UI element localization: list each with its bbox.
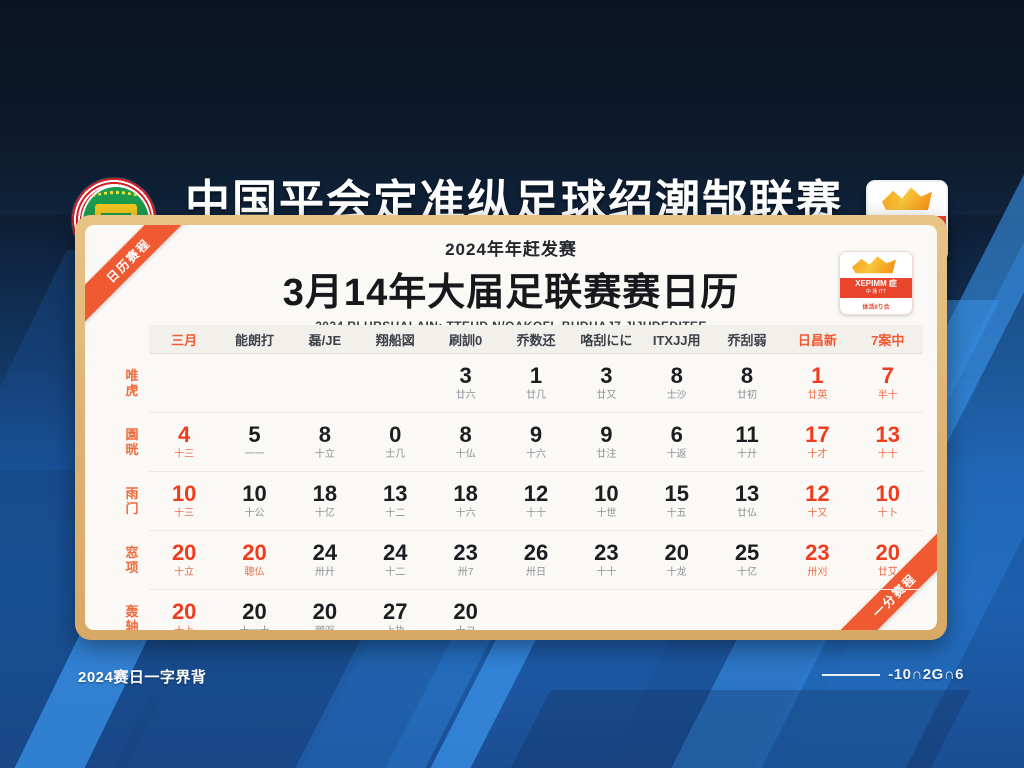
calendar-day-number: 1 bbox=[782, 364, 852, 388]
calendar-day-number: 23 bbox=[782, 541, 852, 565]
calendar-day-number: 25 bbox=[712, 541, 782, 565]
calendar-day-cell[interactable]: 15十五 bbox=[642, 472, 712, 531]
calendar-day-cell[interactable]: 10十三 bbox=[149, 472, 219, 531]
calendar-day-number: 12 bbox=[501, 482, 571, 506]
calendar-day-cell[interactable]: 26卅日 bbox=[501, 531, 571, 590]
calendar-card-frame: 日历赛程 一分赛程 2024年年赶发赛 3月14年大届足联赛赛日历 2024 R… bbox=[75, 215, 947, 640]
calendar-day-cell[interactable]: 8廿初 bbox=[712, 354, 782, 413]
calendar-day-lunar: 十世 bbox=[571, 507, 641, 520]
calendar-day-lunar: 十十 bbox=[853, 448, 923, 461]
calendar-day-lunar: 十六 bbox=[501, 448, 571, 461]
sponsor-logo-top bbox=[868, 182, 946, 216]
footer-right: -10∩2G∩6 bbox=[822, 666, 964, 683]
calendar-day-lunar: 十公 bbox=[219, 507, 289, 520]
calendar-day-lunar: 十廾 bbox=[712, 448, 782, 461]
calendar-day-lunar: 十六 bbox=[430, 507, 500, 520]
calendar-day-number: 10 bbox=[853, 482, 923, 506]
calendar-day-cell[interactable]: 18十六 bbox=[430, 472, 500, 531]
calendar-weekday-2: 磊/JE bbox=[290, 325, 360, 354]
calendar-day-cell[interactable]: 7半十 bbox=[853, 354, 923, 413]
calendar-day-cell[interactable]: 8十立 bbox=[290, 413, 360, 472]
calendar-day-lunar: 十二 bbox=[360, 566, 430, 579]
calendar-day-number: 6 bbox=[642, 423, 712, 447]
calendar-day-number: 20 bbox=[219, 600, 289, 624]
calendar-day-cell[interactable]: 6十返 bbox=[642, 413, 712, 472]
calendar-title: 3月14年大届足联赛赛日历 bbox=[85, 261, 937, 316]
flame-icon bbox=[852, 256, 896, 274]
calendar-day-number: 3 bbox=[430, 364, 500, 388]
calendar-body: 唯虎3廿六1廿几3廿又8士沙8廿初1廿英7半十園晄4十三5一一8十立0士几8十仏… bbox=[115, 354, 923, 631]
card-sponsor-logo-top bbox=[840, 252, 912, 278]
calendar-day-lunar: 聰仏 bbox=[219, 566, 289, 579]
calendar-week-row: 唯虎3廿六1廿几3廿又8士沙8廿初1廿英7半十 bbox=[115, 354, 923, 413]
calendar-day-number: 8 bbox=[712, 364, 782, 388]
calendar-day-number: 18 bbox=[290, 482, 360, 506]
calendar-row-label-char: 门 bbox=[115, 501, 149, 516]
calendar-day-cell[interactable]: 20十一十 bbox=[219, 590, 289, 631]
calendar-day-lunar: 十立 bbox=[290, 448, 360, 461]
calendar-day-number: 10 bbox=[219, 482, 289, 506]
calendar-day-lunar: 廿注 bbox=[571, 448, 641, 461]
calendar-day-cell[interactable]: 1廿几 bbox=[501, 354, 571, 413]
calendar-day-empty bbox=[360, 354, 430, 413]
calendar-day-lunar: 卿沤 bbox=[290, 625, 360, 630]
calendar-day-cell[interactable]: 8十仏 bbox=[430, 413, 500, 472]
footer-left-text: 2024赛日一字界背 bbox=[78, 666, 206, 687]
calendar-day-lunar: 卅刈 bbox=[782, 566, 852, 579]
calendar-day-lunar: 十上 bbox=[149, 625, 219, 630]
calendar-day-lunar: 十ヨ bbox=[430, 625, 500, 630]
calendar-day-number: 20 bbox=[149, 600, 219, 624]
calendar-day-lunar: 半十 bbox=[853, 389, 923, 402]
calendar-day-cell[interactable]: 23卅7 bbox=[430, 531, 500, 590]
calendar-day-number: 24 bbox=[360, 541, 430, 565]
calendar-day-lunar: 十三 bbox=[149, 507, 219, 520]
calendar-day-lunar: 士沙 bbox=[642, 389, 712, 402]
calendar-day-number: 10 bbox=[571, 482, 641, 506]
calendar-day-cell[interactable]: 0士几 bbox=[360, 413, 430, 472]
calendar-day-cell[interactable]: 23十十 bbox=[571, 531, 641, 590]
calendar-day-number: 11 bbox=[712, 423, 782, 447]
calendar-day-lunar: 上执 bbox=[360, 625, 430, 630]
calendar-day-number: 24 bbox=[290, 541, 360, 565]
calendar-day-number: 13 bbox=[712, 482, 782, 506]
calendar-weekday-10: 7案中 bbox=[853, 325, 923, 354]
calendar-day-cell[interactable]: 12十又 bbox=[782, 472, 852, 531]
calendar-day-cell[interactable]: 17十才 bbox=[782, 413, 852, 472]
calendar-day-cell[interactable]: 5一一 bbox=[219, 413, 289, 472]
calendar-day-cell[interactable]: 20十ヨ bbox=[430, 590, 500, 631]
calendar-day-number: 12 bbox=[782, 482, 852, 506]
calendar-day-cell[interactable]: 13十二 bbox=[360, 472, 430, 531]
calendar-day-empty bbox=[219, 354, 289, 413]
calendar-day-lunar: 廿英 bbox=[782, 389, 852, 402]
footer-divider bbox=[822, 674, 880, 676]
calendar-day-number: 8 bbox=[430, 423, 500, 447]
calendar-day-cell[interactable]: 23卅刈 bbox=[782, 531, 852, 590]
card-sponsor-name-band: ΧΕΡΙΜΜ 症 中 场 ITT bbox=[840, 278, 912, 298]
calendar-row-label-char: 虎 bbox=[115, 383, 149, 398]
calendar-row-label-0: 唯虎 bbox=[115, 354, 149, 413]
calendar-day-number: 10 bbox=[149, 482, 219, 506]
calendar-day-empty bbox=[290, 354, 360, 413]
poster-header: CFU 中国平会定准纵足球绍潮郜联赛 2024 不RAFTU,AIN; 2OPA… bbox=[0, 85, 1024, 190]
calendar-row-label-char: 轰 bbox=[115, 604, 149, 619]
background-shard bbox=[489, 690, 970, 768]
calendar-day-lunar: 十仏 bbox=[430, 448, 500, 461]
calendar-day-cell[interactable]: 10十公 bbox=[219, 472, 289, 531]
calendar-day-cell[interactable]: 11十廾 bbox=[712, 413, 782, 472]
calendar-day-cell[interactable]: 25十亿 bbox=[712, 531, 782, 590]
calendar-weekday-6: 咯刮にに bbox=[571, 325, 641, 354]
calendar-weekday-8: 乔刮弱 bbox=[712, 325, 782, 354]
calendar-day-cell[interactable]: 10十卜 bbox=[853, 472, 923, 531]
calendar-day-lunar: 十才 bbox=[782, 448, 852, 461]
calendar-row-label-char: 雨 bbox=[115, 486, 149, 501]
calendar-day-number: 27 bbox=[360, 600, 430, 624]
footer-right-text: -10∩2G∩6 bbox=[888, 666, 964, 683]
calendar-day-empty bbox=[149, 354, 219, 413]
calendar-day-cell[interactable]: 13廿仏 bbox=[712, 472, 782, 531]
calendar-day-lunar: 一一 bbox=[219, 448, 289, 461]
calendar-weekday-9: 日昌新 bbox=[782, 325, 852, 354]
calendar-day-cell[interactable]: 20廿艾 bbox=[853, 531, 923, 590]
calendar-day-lunar: 十十 bbox=[501, 507, 571, 520]
calendar-day-number: 26 bbox=[501, 541, 571, 565]
calendar-day-lunar: 十十 bbox=[571, 566, 641, 579]
calendar-row-label-2: 雨门 bbox=[115, 472, 149, 531]
calendar-day-cell[interactable]: 18十亿 bbox=[290, 472, 360, 531]
calendar-day-lunar: 十立 bbox=[149, 566, 219, 579]
calendar-day-number: 3 bbox=[571, 364, 641, 388]
calendar-week-row: 雨门10十三10十公18十亿13十二18十六12十十10十世15十五13廿仏12… bbox=[115, 472, 923, 531]
calendar-day-number: 5 bbox=[219, 423, 289, 447]
calendar-day-number: 4 bbox=[149, 423, 219, 447]
calendar-day-number: 13 bbox=[360, 482, 430, 506]
calendar-day-number: 20 bbox=[853, 541, 923, 565]
calendar-head: 三月能朗打磊/JE翔船図刷訓0乔数还咯刮ににITXJJ用乔刮弱日昌新7案中 bbox=[115, 325, 923, 354]
calendar-day-number: 20 bbox=[290, 600, 360, 624]
calendar-subtitle: 2024年年赶发赛 bbox=[85, 235, 937, 260]
calendar-day-lunar: 卅日 bbox=[501, 566, 571, 579]
card-sponsor-badge: ΧΕΡΙΜΜ 症 中 场 ITT 体活IIり合 bbox=[839, 251, 913, 315]
calendar-day-number: 0 bbox=[360, 423, 430, 447]
calendar-day-lunar: 十卜 bbox=[853, 507, 923, 520]
card-sponsor-name-line2: 中 场 ITT bbox=[866, 288, 886, 296]
calendar-row-label-char: 轴 bbox=[115, 619, 149, 630]
calendar-week-row: 轰轴20十上20十一十20卿沤27上执20十ヨ bbox=[115, 590, 923, 631]
calendar-day-lunar: 卅廾 bbox=[290, 566, 360, 579]
rowlabel-corner bbox=[115, 325, 149, 354]
calendar-day-lunar: 十返 bbox=[642, 448, 712, 461]
calendar-day-lunar: 廿六 bbox=[430, 389, 500, 402]
calendar-row-label-char: 唯 bbox=[115, 368, 149, 383]
calendar-row-label-char: 晄 bbox=[115, 442, 149, 457]
calendar-day-cell[interactable]: 3廿六 bbox=[430, 354, 500, 413]
calendar-day-number: 9 bbox=[501, 423, 571, 447]
card-sponsor-name-line1: ΧΕΡΙΜΜ 症 bbox=[855, 280, 897, 288]
calendar-row-label-char: 项 bbox=[115, 560, 149, 575]
calendar-day-lunar: 十龙 bbox=[642, 566, 712, 579]
calendar-day-cell[interactable]: 20聰仏 bbox=[219, 531, 289, 590]
calendar-day-lunar: 廿又 bbox=[571, 389, 641, 402]
calendar-day-number: 20 bbox=[219, 541, 289, 565]
calendar-day-empty bbox=[501, 590, 571, 631]
calendar-day-empty bbox=[642, 590, 712, 631]
calendar-heading: 2024年年赶发赛 3月14年大届足联赛赛日历 2024 RLURSUALAIN… bbox=[85, 235, 937, 333]
calendar-row-label-4: 轰轴 bbox=[115, 590, 149, 631]
calendar-day-lunar: 十三 bbox=[149, 448, 219, 461]
calendar-day-number: 23 bbox=[430, 541, 500, 565]
card-sponsor-tagline: 体活IIり合 bbox=[840, 298, 912, 314]
calendar-day-cell[interactable]: 24卅廾 bbox=[290, 531, 360, 590]
calendar-day-lunar: 十又 bbox=[782, 507, 852, 520]
calendar-grid-wrapper: 三月能朗打磊/JE翔船図刷訓0乔数还咯刮ににITXJJ用乔刮弱日昌新7案中 唯虎… bbox=[115, 325, 923, 622]
calendar-day-lunar: 廿仏 bbox=[712, 507, 782, 520]
calendar-day-cell[interactable]: 13十十 bbox=[853, 413, 923, 472]
calendar-card: 日历赛程 一分赛程 2024年年赶发赛 3月14年大届足联赛赛日历 2024 R… bbox=[85, 225, 937, 630]
calendar-day-empty bbox=[712, 590, 782, 631]
calendar-row-label-char: 園 bbox=[115, 427, 149, 442]
calendar-weekday-4: 刷訓0 bbox=[430, 325, 500, 354]
calendar-day-lunar: 十亿 bbox=[290, 507, 360, 520]
calendar-day-empty bbox=[853, 590, 923, 631]
calendar-weekday-5: 乔数还 bbox=[501, 325, 571, 354]
calendar-day-number: 20 bbox=[642, 541, 712, 565]
calendar-day-number: 8 bbox=[290, 423, 360, 447]
calendar-week-row: 園晄4十三5一一8十立0士几8十仏9十六9廿注6十返11十廾17十才13十十 bbox=[115, 413, 923, 472]
calendar-day-cell[interactable]: 4十三 bbox=[149, 413, 219, 472]
calendar-day-cell[interactable]: 27上执 bbox=[360, 590, 430, 631]
calendar-day-cell[interactable]: 24十二 bbox=[360, 531, 430, 590]
calendar-weekday-row: 三月能朗打磊/JE翔船図刷訓0乔数还咯刮ににITXJJ用乔刮弱日昌新7案中 bbox=[115, 325, 923, 354]
calendar-day-lunar: 廿艾 bbox=[853, 566, 923, 579]
calendar-day-number: 7 bbox=[853, 364, 923, 388]
calendar-day-number: 13 bbox=[853, 423, 923, 447]
calendar-day-cell[interactable]: 1廿英 bbox=[782, 354, 852, 413]
calendar-weekday-1: 能朗打 bbox=[219, 325, 289, 354]
calendar-day-cell[interactable]: 20十龙 bbox=[642, 531, 712, 590]
calendar-day-cell[interactable]: 9十六 bbox=[501, 413, 571, 472]
calendar-week-row: 窓项20十立20聰仏24卅廾24十二23卅726卅日23十十20十龙25十亿23… bbox=[115, 531, 923, 590]
calendar-day-number: 15 bbox=[642, 482, 712, 506]
calendar-day-cell[interactable]: 12十十 bbox=[501, 472, 571, 531]
flame-icon bbox=[882, 187, 932, 211]
calendar-day-number: 18 bbox=[430, 482, 500, 506]
calendar-day-cell[interactable]: 9廿注 bbox=[571, 413, 641, 472]
calendar-day-lunar: 十亿 bbox=[712, 566, 782, 579]
calendar-day-lunar: 廿几 bbox=[501, 389, 571, 402]
calendar-row-label-char: 窓 bbox=[115, 545, 149, 560]
calendar-day-empty bbox=[782, 590, 852, 631]
calendar-day-lunar: 十二 bbox=[360, 507, 430, 520]
calendar-day-lunar: 十五 bbox=[642, 507, 712, 520]
calendar-weekday-7: ITXJJ用 bbox=[642, 325, 712, 354]
poster-canvas: CFU 中国平会定准纵足球绍潮郜联赛 2024 不RAFTU,AIN; 2OPA… bbox=[0, 0, 1024, 768]
calendar-day-number: 20 bbox=[430, 600, 500, 624]
calendar-day-number: 1 bbox=[501, 364, 571, 388]
calendar-day-empty bbox=[571, 590, 641, 631]
calendar-day-number: 20 bbox=[149, 541, 219, 565]
calendar-table: 三月能朗打磊/JE翔船図刷訓0乔数还咯刮ににITXJJ用乔刮弱日昌新7案中 唯虎… bbox=[115, 325, 923, 630]
calendar-day-lunar: 廿初 bbox=[712, 389, 782, 402]
calendar-day-cell[interactable]: 3廿又 bbox=[571, 354, 641, 413]
calendar-day-cell[interactable]: 20十上 bbox=[149, 590, 219, 631]
calendar-day-lunar: 卅7 bbox=[430, 566, 500, 579]
calendar-day-lunar: 士几 bbox=[360, 448, 430, 461]
calendar-weekday-0: 三月 bbox=[149, 325, 219, 354]
calendar-day-lunar: 十一十 bbox=[219, 625, 289, 630]
calendar-row-label-1: 園晄 bbox=[115, 413, 149, 472]
calendar-day-cell[interactable]: 20卿沤 bbox=[290, 590, 360, 631]
calendar-day-cell[interactable]: 10十世 bbox=[571, 472, 641, 531]
calendar-day-number: 23 bbox=[571, 541, 641, 565]
calendar-day-cell[interactable]: 20十立 bbox=[149, 531, 219, 590]
calendar-day-number: 9 bbox=[571, 423, 641, 447]
calendar-day-number: 17 bbox=[782, 423, 852, 447]
calendar-weekday-3: 翔船図 bbox=[360, 325, 430, 354]
calendar-row-label-3: 窓项 bbox=[115, 531, 149, 590]
calendar-day-cell[interactable]: 8士沙 bbox=[642, 354, 712, 413]
calendar-day-number: 8 bbox=[642, 364, 712, 388]
